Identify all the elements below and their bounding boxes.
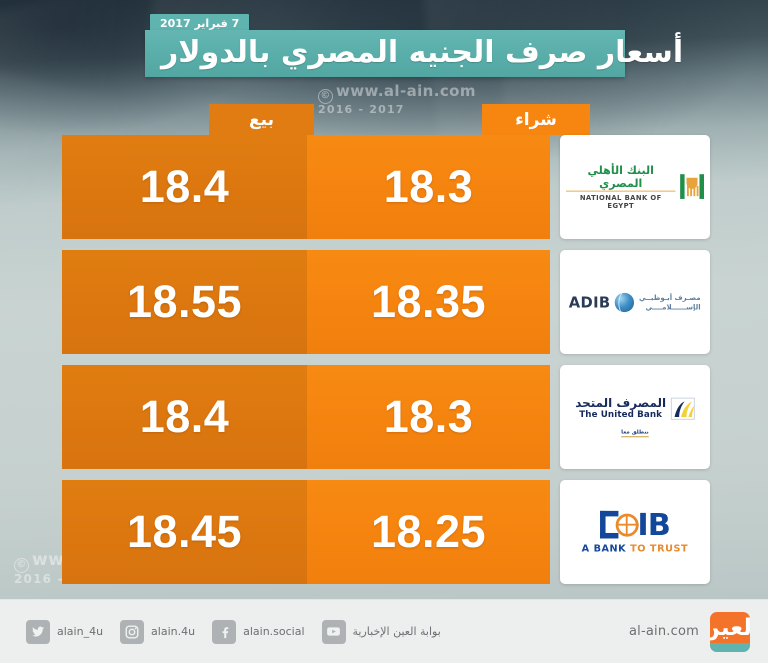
brand-logo-band xyxy=(710,643,750,652)
al-ain-logo-icon[interactable]: العين xyxy=(710,612,750,652)
brand-glyph: العين xyxy=(710,615,750,641)
bank-name-ar-line2: الإســــــلامــــي xyxy=(639,302,701,311)
sell-rate-cell: 18.4 xyxy=(62,135,307,239)
social-link-youtube[interactable]: بوابة العين الإخبارية xyxy=(322,620,441,644)
twitter-icon[interactable] xyxy=(26,620,50,644)
exchange-rate-table: بيع شراء 18.4 18.3 البنك الأهلي المصري N… xyxy=(62,104,712,595)
bank-tagline-en: A BANK TO TRUST xyxy=(582,543,688,554)
bank-logo-adib: ADIB مصـرف أبـوظبــي الإســــــلامــــي xyxy=(560,250,710,354)
social-link-facebook[interactable]: alain.social xyxy=(212,620,304,644)
bank-tagline-ar: ننطلق معا xyxy=(621,429,648,437)
social-label: alain.social xyxy=(243,625,304,638)
cib-wordmark-icon: IB xyxy=(582,510,688,538)
spacer xyxy=(550,135,560,239)
facebook-icon[interactable] xyxy=(212,620,236,644)
bank-name-ar: المصرف المتحد xyxy=(575,397,666,411)
instagram-icon[interactable] xyxy=(120,620,144,644)
bank-name-ar-line1: مصـرف أبـوظبــي xyxy=(639,293,701,302)
social-label: alain.4u xyxy=(151,625,195,638)
buy-rate-cell: 18.25 xyxy=(307,480,550,584)
column-header-sell: بيع xyxy=(209,104,314,135)
column-header-buy: شراء xyxy=(482,104,590,135)
table-header-row: بيع شراء xyxy=(62,104,712,135)
brand-url[interactable]: al-ain.com xyxy=(629,624,699,639)
buy-rate-cell: 18.3 xyxy=(307,135,550,239)
buy-rate-cell: 18.3 xyxy=(307,365,550,469)
title-bar: أسعار صرف الجنيه المصري بالدولار xyxy=(145,30,625,77)
united-bank-emblem-icon xyxy=(671,397,695,419)
bank-logo-cib: IB A BANK TO TRUST xyxy=(560,480,710,584)
social-links: alain_4u alain.4u alain.social xyxy=(26,620,441,644)
social-link-twitter[interactable]: alain_4u xyxy=(26,620,103,644)
sell-rate-cell: 18.4 xyxy=(62,365,307,469)
bank-name-en: NATIONAL BANK OF EGYPT xyxy=(566,191,675,210)
adib-globe-icon xyxy=(615,292,634,311)
page-title: أسعار صرف الجنيه المصري بالدولار xyxy=(161,35,683,70)
spacer xyxy=(550,250,560,354)
bank-name-en: The United Bank xyxy=(575,410,666,420)
buy-rate-cell: 18.35 xyxy=(307,250,550,354)
footer: alain_4u alain.4u alain.social xyxy=(0,600,768,663)
bank-name-ar: البنك الأهلي المصري xyxy=(566,164,675,190)
table-row: 18.55 18.35 ADIB مصـرف أبـوظبــي الإســـ… xyxy=(62,250,712,354)
bank-logo-national-bank-of-egypt: البنك الأهلي المصري NATIONAL BANK OF EGY… xyxy=(560,135,710,239)
cib-letters: IB xyxy=(638,511,671,537)
bank-tagline-part2: TO TRUST xyxy=(630,543,688,554)
spacer xyxy=(550,480,560,584)
sell-rate-cell: 18.55 xyxy=(62,250,307,354)
social-label: بوابة العين الإخبارية xyxy=(353,625,441,638)
table-row: 18.45 18.25 IB A BANK TO TRUST xyxy=(62,480,712,584)
table-row: 18.4 18.3 البنك الأهلي المصري NATIONAL B… xyxy=(62,135,712,239)
bank-tagline-part1: A BANK xyxy=(582,543,627,554)
bank-name-ar: مصـرف أبـوظبــي الإســــــلامــــي xyxy=(639,293,701,310)
social-label: alain_4u xyxy=(57,625,103,638)
bank-name-en: ADIB xyxy=(569,293,611,310)
nbe-emblem-icon xyxy=(680,175,704,200)
sell-rate-cell: 18.45 xyxy=(62,480,307,584)
spacer xyxy=(550,365,560,469)
brand[interactable]: al-ain.com العين xyxy=(629,612,750,652)
table-row: 18.4 18.3 المصرف المتحد The United Bank xyxy=(62,365,712,469)
youtube-icon[interactable] xyxy=(322,620,346,644)
bank-logo-the-united-bank: المصرف المتحد The United Bank ننطلق معا xyxy=(560,365,710,469)
social-link-instagram[interactable]: alain.4u xyxy=(120,620,195,644)
